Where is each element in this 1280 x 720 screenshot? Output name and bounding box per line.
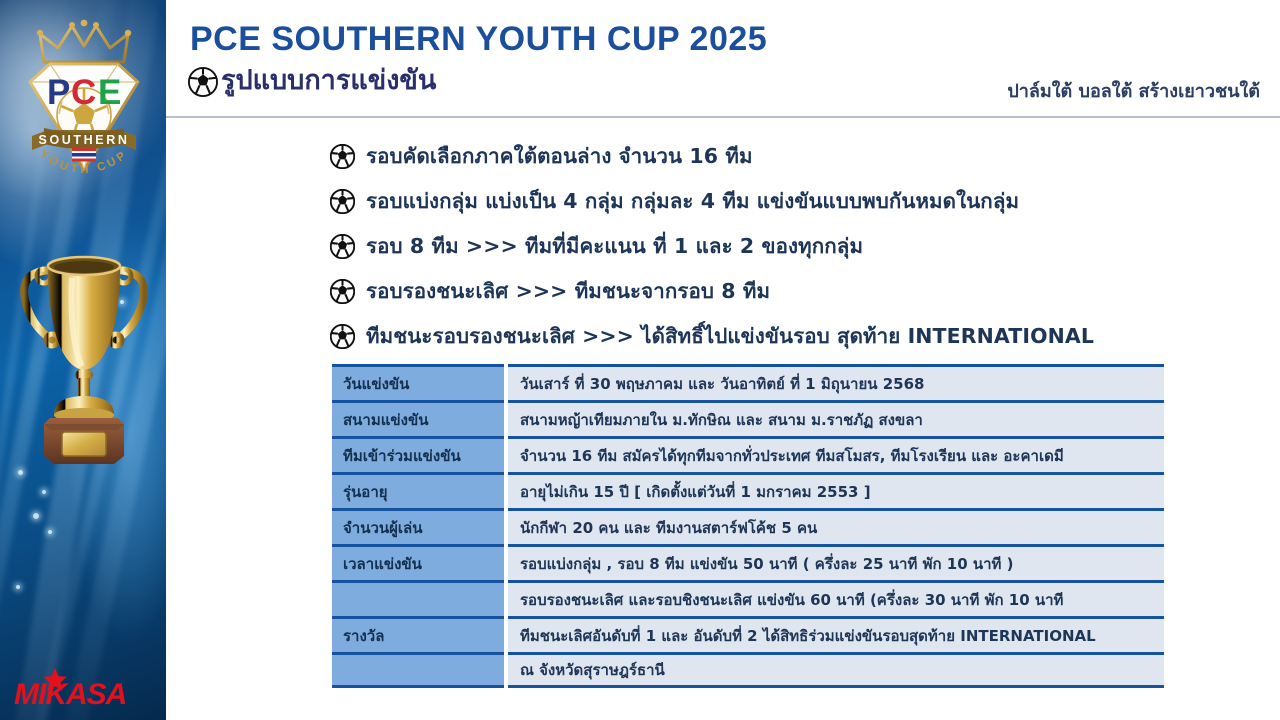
soccer-ball-icon: [330, 324, 355, 349]
table-cell-text: ณ จังหวัดสุราษฎร์ธานี: [520, 658, 665, 682]
table-row-value-cell: นักกีฬา 20 คน และ ทีมงานสตาร์ฟโค้ช 5 คน: [508, 508, 1164, 544]
table-row-label-cell: รุ่นอายุ: [332, 472, 504, 508]
sparkle-dot: [48, 530, 52, 534]
page-subtitle-row: รูปแบบการแข่งขัน: [188, 58, 436, 101]
table-row-label-cell: [332, 652, 504, 688]
svg-text:SOUTHERN: SOUTHERN: [39, 133, 130, 147]
table-cell-text: เวลาแข่งขัน: [343, 552, 422, 576]
page-subtitle: รูปแบบการแข่งขัน: [221, 58, 436, 101]
table-cell-text: รอบรองชนะเลิศ และรอบชิงชนะเลิศ แข่งขัน 6…: [520, 588, 1063, 612]
sidebar-branding-panel: P C E SOUTHERN YOUTH CUP: [0, 0, 166, 720]
table-cell-text: สนามหญ้าเทียมภายใน ม.ทักษิณ และ สนาม ม.ร…: [520, 408, 923, 432]
svg-text:E: E: [98, 73, 121, 112]
table-cell-text: จำนวน 16 ทีม สมัครได้ทุกทีมจากทั่วประเทศ…: [520, 444, 1064, 468]
table-row: รางวัล ทีมชนะเลิศอันดับที่ 1 และ อันดับท…: [332, 616, 1164, 652]
list-item: รอบรองชนะเลิศ >>> ทีมชนะจากรอบ 8 ทีม: [330, 269, 1260, 314]
soccer-ball-icon: [330, 279, 355, 304]
table-row-label-cell: [332, 580, 504, 616]
table-row-label-cell: สนามแข่งขัน: [332, 400, 504, 436]
tournament-details-table: วันแข่งขัน วันเสาร์ ที่ 30 พฤษภาคม และ ว…: [332, 364, 1164, 688]
soccer-ball-icon: [330, 144, 355, 169]
table-row-label-cell: รางวัล: [332, 616, 504, 652]
page-header: PCE SOUTHERN YOUTH CUP 2025 รูปแบบการแข่…: [166, 0, 1280, 118]
soccer-ball-icon: [188, 67, 213, 92]
list-item-label: รอบรองชนะเลิศ >>> ทีมชนะจากรอบ 8 ทีม: [366, 275, 770, 308]
table-cell-text: ทีมชนะเลิศอันดับที่ 1 และ อันดับที่ 2 ได…: [520, 624, 1096, 648]
table-row-value-cell: รอบรองชนะเลิศ และรอบชิงชนะเลิศ แข่งขัน 6…: [508, 580, 1164, 616]
table-row: จำนวนผู้เล่น นักกีฬา 20 คน และ ทีมงานสตา…: [332, 508, 1164, 544]
table-row: ณ จังหวัดสุราษฎร์ธานี: [332, 652, 1164, 688]
table-cell-text: จำนวนผู้เล่น: [343, 516, 423, 540]
table-row-value-cell: ทีมชนะเลิศอันดับที่ 1 และ อันดับที่ 2 ได…: [508, 616, 1164, 652]
table-row-value-cell: ณ จังหวัดสุราษฎร์ธานี: [508, 652, 1164, 688]
table-row: สนามแข่งขัน สนามหญ้าเทียมภายใน ม.ทักษิณ …: [332, 400, 1164, 436]
table-row: รุ่นอายุ อายุไม่เกิน 15 ปี [ เกิดตั้งแต่…: [332, 472, 1164, 508]
table-cell-text: นักกีฬา 20 คน และ ทีมงานสตาร์ฟโค้ช 5 คน: [520, 516, 817, 540]
list-item-label: รอบแบ่งกลุ่ม แบ่งเป็น 4 กลุ่ม กลุ่มละ 4 …: [366, 185, 1019, 218]
table-row-value-cell: รอบแบ่งกลุ่ม , รอบ 8 ทีม แข่งขัน 50 นาที…: [508, 544, 1164, 580]
list-item-label: รอบ 8 ทีม >>> ทีมที่มีคะแนน ที่ 1 และ 2 …: [366, 230, 863, 263]
sparkle-dot: [18, 470, 23, 475]
table-cell-text: รางวัล: [343, 624, 384, 648]
list-item: รอบ 8 ทีม >>> ทีมที่มีคะแนน ที่ 1 และ 2 …: [330, 224, 1260, 269]
svg-text:MIKASA: MIKASA: [14, 678, 126, 710]
table-row: วันแข่งขัน วันเสาร์ ที่ 30 พฤษภาคม และ ว…: [332, 364, 1164, 400]
table-row-value-cell: จำนวน 16 ทีม สมัครได้ทุกทีมจากทั่วประเทศ…: [508, 436, 1164, 472]
table-cell-text: สนามแข่งขัน: [343, 408, 428, 432]
mikasa-logo: MIKASA: [12, 668, 152, 710]
table-cell-text: รอบแบ่งกลุ่ม , รอบ 8 ทีม แข่งขัน 50 นาที…: [520, 552, 1014, 576]
header-tagline: ปาล์มใต้ บอลใต้ สร้างเยาวชนใต้: [1007, 76, 1260, 105]
table-row-label-cell: วันแข่งขัน: [332, 364, 504, 400]
soccer-ball-icon: [330, 189, 355, 214]
list-item: รอบแบ่งกลุ่ม แบ่งเป็น 4 กลุ่ม กลุ่มละ 4 …: [330, 179, 1260, 224]
sparkle-dot: [16, 585, 20, 589]
soccer-ball-icon: [330, 234, 355, 259]
table-row-label-cell: ทีมเข้าร่วมแข่งขัน: [332, 436, 504, 472]
list-item-label: รอบคัดเลือกภาคใต้ตอนล่าง จำนวน 16 ทีม: [366, 140, 753, 173]
sparkle-dot: [33, 513, 39, 519]
table-row-value-cell: วันเสาร์ ที่ 30 พฤษภาคม และ วันอาทิตย์ ท…: [508, 364, 1164, 400]
svg-text:C: C: [71, 73, 96, 112]
header-divider: [166, 116, 1280, 118]
table-cell-text: ทีมเข้าร่วมแข่งขัน: [343, 444, 461, 468]
svg-text:P: P: [47, 73, 70, 112]
table-row: รอบรองชนะเลิศ และรอบชิงชนะเลิศ แข่งขัน 6…: [332, 580, 1164, 616]
table-row: ทีมเข้าร่วมแข่งขัน จำนวน 16 ทีม สมัครได้…: [332, 436, 1164, 472]
table-row-label-cell: จำนวนผู้เล่น: [332, 508, 504, 544]
table-cell-text: วันแข่งขัน: [343, 372, 409, 396]
competition-format-list: รอบคัดเลือกภาคใต้ตอนล่าง จำนวน 16 ทีม รอ…: [330, 134, 1260, 359]
pce-crest-logo: P C E SOUTHERN YOUTH CUP: [14, 18, 154, 188]
table-row-value-cell: สนามหญ้าเทียมภายใน ม.ทักษิณ และ สนาม ม.ร…: [508, 400, 1164, 436]
list-item: ทีมชนะรอบรองชนะเลิศ >>> ได้สิทธิ์ไปแข่งข…: [330, 314, 1260, 359]
list-item: รอบคัดเลือกภาคใต้ตอนล่าง จำนวน 16 ทีม: [330, 134, 1260, 179]
table-cell-text: รุ่นอายุ: [343, 480, 388, 504]
sparkle-dot: [42, 490, 46, 494]
table-cell-text: อายุไม่เกิน 15 ปี [ เกิดตั้งแต่วันที่ 1 …: [520, 480, 871, 504]
table-row: เวลาแข่งขัน รอบแบ่งกลุ่ม , รอบ 8 ทีม แข่…: [332, 544, 1164, 580]
table-row-value-cell: อายุไม่เกิน 15 ปี [ เกิดตั้งแต่วันที่ 1 …: [508, 472, 1164, 508]
table-row-label-cell: เวลาแข่งขัน: [332, 544, 504, 580]
list-item-label: ทีมชนะรอบรองชนะเลิศ >>> ได้สิทธิ์ไปแข่งข…: [366, 320, 1094, 353]
gold-trophy-icon: [14, 218, 154, 468]
page-title: PCE SOUTHERN YOUTH CUP 2025: [190, 20, 767, 59]
table-cell-text: วันเสาร์ ที่ 30 พฤษภาคม และ วันอาทิตย์ ท…: [520, 372, 925, 396]
